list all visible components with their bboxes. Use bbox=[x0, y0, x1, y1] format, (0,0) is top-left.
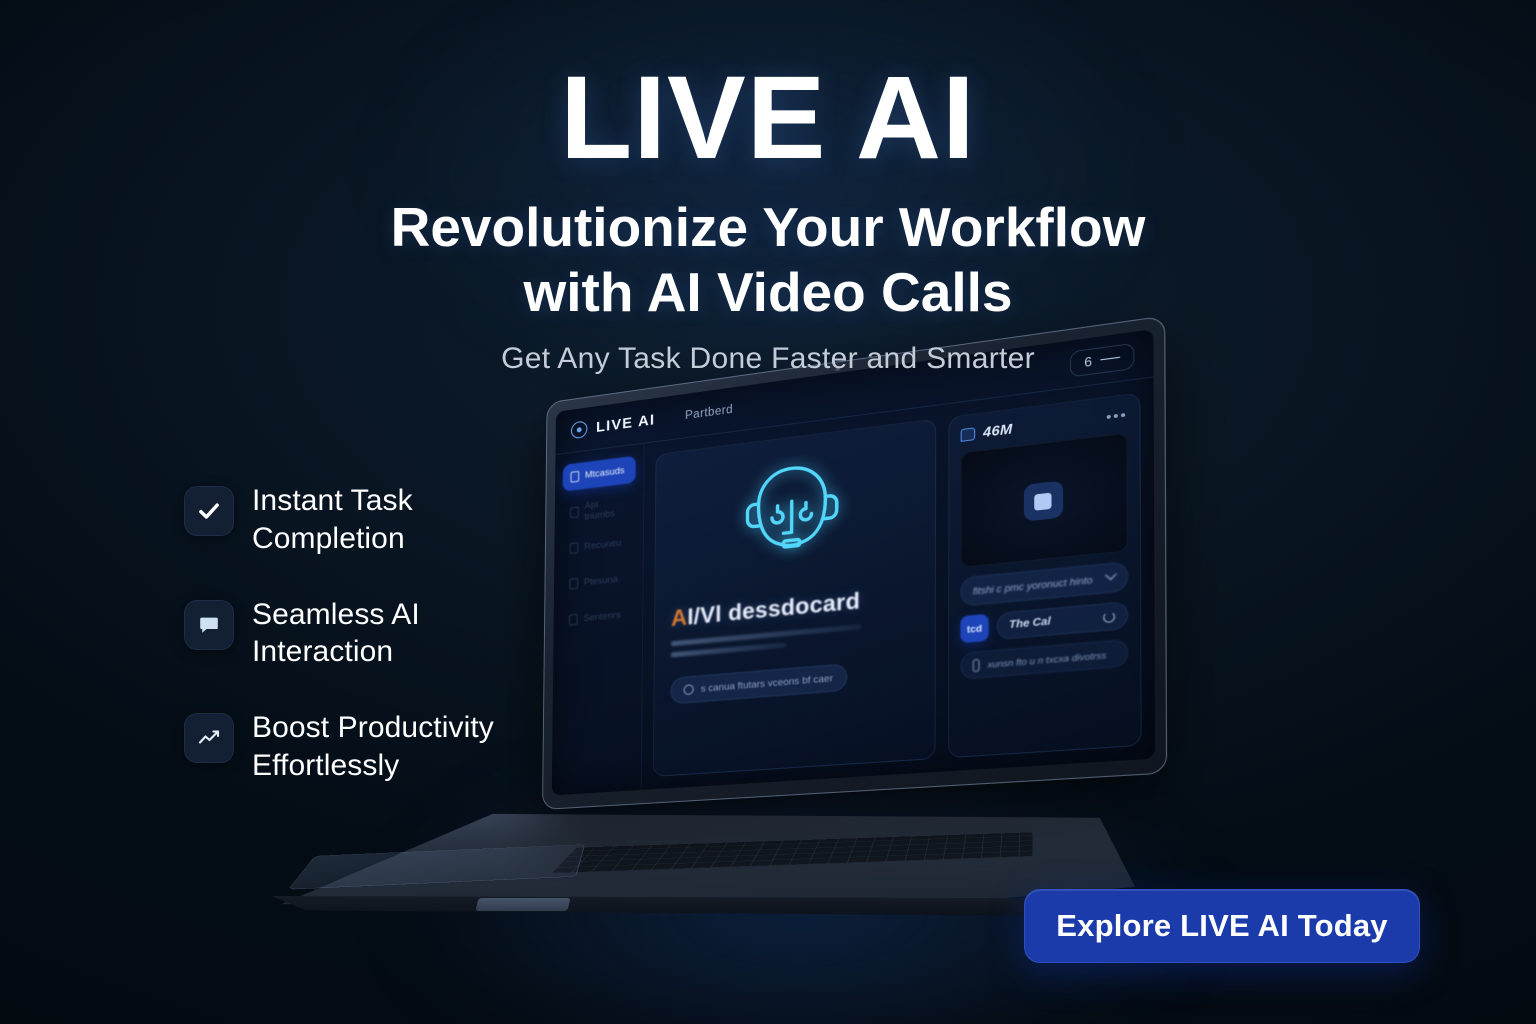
app-main-panel: AI/Vl dessdocard s canua ftutars vceons … bbox=[642, 404, 949, 790]
trending-up-icon bbox=[184, 713, 234, 763]
card-heading: AI/Vl dessdocard bbox=[671, 587, 860, 632]
hero-section: LIVE AI Revolutionize Your Workflow with… bbox=[0, 62, 1536, 376]
hero-tagline: Get Any Task Done Faster and Smarter bbox=[0, 342, 1536, 376]
app-right-panel: 46M ••• fitshi c pmc yoronuct hinto tcd bbox=[948, 377, 1155, 771]
attachment-icon[interactable] bbox=[973, 658, 980, 672]
hero-subtitle-line-2: with AI Video Calls bbox=[0, 260, 1536, 324]
feature-label: Instant Task Completion bbox=[252, 482, 562, 558]
call-app-icon[interactable]: tcd bbox=[960, 614, 988, 643]
hero-subtitle: Revolutionize Your Workflow with AI Vide… bbox=[0, 195, 1536, 324]
laptop-screen: LIVE AI Partberd 6 Mtcasuds bbox=[552, 329, 1155, 795]
card-chip-label: s canua ftutars vceons bf caer bbox=[701, 672, 833, 694]
check-icon bbox=[184, 486, 234, 536]
message-input[interactable]: xunsn fto u n txcxa divotrss bbox=[960, 639, 1128, 680]
sidebar-item-label: Mtcasuds bbox=[585, 465, 625, 481]
list-item: Boost Productivity Effortlessly bbox=[184, 709, 584, 785]
video-preview[interactable] bbox=[960, 432, 1127, 568]
app-brand: LIVE AI bbox=[571, 411, 655, 439]
chat-bubble-icon bbox=[184, 600, 234, 650]
feature-label: Boost Productivity Effortlessly bbox=[252, 709, 562, 785]
sidebar-item-label: Apt tnumbs bbox=[584, 495, 627, 522]
clock-icon bbox=[684, 684, 694, 695]
call-action-row: tcd The Cal bbox=[960, 601, 1128, 643]
card-status-chip[interactable]: s canua ftutars vceons bf caer bbox=[670, 663, 847, 704]
laptop-notch bbox=[475, 898, 570, 911]
more-horizontal-icon[interactable]: ••• bbox=[1106, 406, 1128, 425]
sidebar-item-label: Recuneu bbox=[584, 537, 621, 552]
page-title: LIVE AI bbox=[0, 62, 1536, 175]
call-select[interactable]: fitshi c pmc yoronuct hinto bbox=[960, 561, 1128, 606]
app-brand-name: LIVE AI bbox=[596, 411, 655, 436]
card-heading-text: I/Vl dessdocard bbox=[687, 587, 860, 629]
list-item: Instant Task Completion bbox=[184, 482, 584, 558]
call-select-value: fitshi c pmc yoronuct hinto bbox=[973, 574, 1093, 596]
card-body-text bbox=[671, 624, 861, 664]
document-icon bbox=[570, 471, 579, 483]
app-nav-item[interactable]: Partberd bbox=[685, 403, 733, 422]
start-call-button[interactable]: The Cal bbox=[997, 601, 1129, 640]
refresh-icon[interactable] bbox=[1103, 611, 1115, 623]
stop-square-icon[interactable] bbox=[1023, 480, 1062, 521]
call-panel: 46M ••• fitshi c pmc yoronuct hinto tcd bbox=[948, 392, 1142, 758]
laptop-lid: LIVE AI Partberd 6 Mtcasuds bbox=[542, 315, 1167, 810]
explore-cta-button[interactable]: Explore LIVE AI Today bbox=[1024, 889, 1420, 963]
message-input-placeholder: xunsn fto u n txcxa divotrss bbox=[987, 649, 1106, 670]
card-heading-accent: A bbox=[671, 604, 687, 631]
feature-label: Seamless AI Interaction bbox=[252, 596, 562, 672]
sidebar-item-label: Ptesuna bbox=[584, 574, 618, 589]
ai-assistant-card: AI/Vl dessdocard s canua ftutars vceons … bbox=[653, 418, 936, 777]
hero-subtitle-line-1: Revolutionize Your Workflow bbox=[0, 195, 1536, 259]
laptop-front-edge bbox=[263, 896, 1121, 916]
feature-list: Instant Task Completion Seamless AI Inte… bbox=[184, 482, 584, 785]
start-call-label: The Cal bbox=[1009, 616, 1051, 632]
list-item: Seamless AI Interaction bbox=[184, 596, 584, 672]
video-tag-icon bbox=[961, 427, 976, 442]
chevron-down-icon bbox=[1105, 569, 1117, 580]
app-logo-icon bbox=[571, 420, 588, 439]
call-panel-title: 46M bbox=[983, 420, 1013, 440]
sidebar-item-label: Sentenrs bbox=[583, 610, 620, 625]
ai-face-icon bbox=[731, 449, 853, 588]
